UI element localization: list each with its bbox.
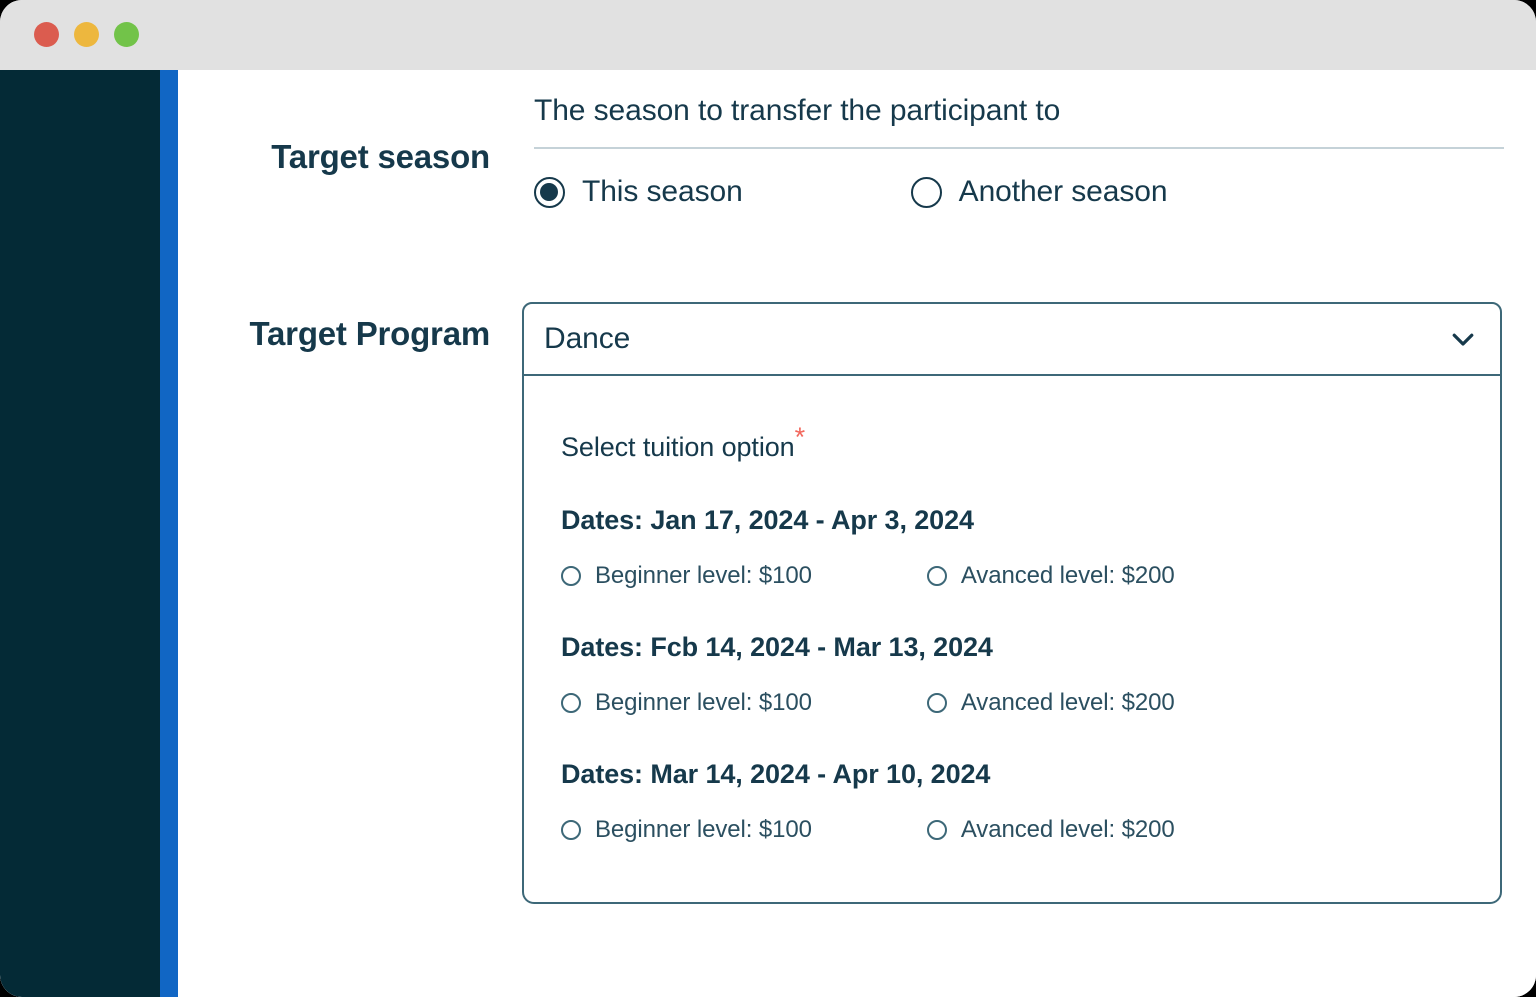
tuition-option-beginner[interactable]: Beginner level: $100 [561,562,812,590]
tuition-group: Dates: Fcb 14, 2024 - Mar 13, 2024 Begin… [524,632,1500,717]
radio-another-season-icon[interactable] [911,177,942,208]
tuition-option-beginner[interactable]: Beginner level: $100 [561,816,812,844]
target-program-field: Dance Select tuition option* Dates: Jan … [522,302,1502,904]
radio-this-season-label: This season [582,175,743,209]
tuition-panel-title-text: Select tuition option [561,432,795,462]
tuition-option-advanced[interactable]: Avanced level: $200 [927,562,1175,590]
sidebar-accent-strip [160,70,178,997]
radio-advanced-icon[interactable] [927,820,947,840]
tuition-radio-group: Beginner level: $100 Avanced level: $200 [524,562,1500,590]
sidebar [0,70,160,997]
tuition-group-dates: Dates: Mar 14, 2024 - Apr 10, 2024 [524,759,1500,790]
tuition-radio-group: Beginner level: $100 Avanced level: $200 [524,689,1500,717]
maximize-button[interactable] [114,22,139,47]
tuition-group-dates: Dates: Fcb 14, 2024 - Mar 13, 2024 [524,632,1500,663]
app-body: Target season The season to transfer the… [0,70,1536,997]
tuition-group-dates: Dates: Jan 17, 2024 - Apr 3, 2024 [524,505,1500,536]
tuition-option-beginner[interactable]: Beginner level: $100 [561,689,812,717]
tuition-option-advanced-label: Avanced level: $200 [961,562,1175,590]
program-select[interactable]: Dance [522,302,1502,376]
tuition-option-beginner-label: Beginner level: $100 [595,689,812,717]
radio-option-this-season[interactable]: This season [534,175,743,209]
close-button[interactable] [34,22,59,47]
season-divider [534,147,1504,149]
radio-beginner-icon[interactable] [561,693,581,713]
minimize-button[interactable] [74,22,99,47]
tuition-option-advanced[interactable]: Avanced level: $200 [927,816,1175,844]
target-season-block: The season to transfer the participant t… [534,90,1514,209]
tuition-panel-title: Select tuition option* [524,432,1500,463]
target-season-label: Target season [200,138,490,176]
target-program-label: Target Program [200,315,490,353]
tuition-group: Dates: Jan 17, 2024 - Apr 3, 2024 Beginn… [524,505,1500,590]
radio-beginner-icon[interactable] [561,566,581,586]
tuition-option-advanced-label: Avanced level: $200 [961,689,1175,717]
chevron-down-icon[interactable] [1448,324,1478,354]
tuition-option-advanced-label: Avanced level: $200 [961,816,1175,844]
tuition-options-panel: Select tuition option* Dates: Jan 17, 20… [522,376,1502,904]
season-radio-group: This season Another season [534,175,1514,209]
tuition-option-advanced[interactable]: Avanced level: $200 [927,689,1175,717]
radio-beginner-icon[interactable] [561,820,581,840]
tuition-option-beginner-label: Beginner level: $100 [595,816,812,844]
tuition-option-beginner-label: Beginner level: $100 [595,562,812,590]
radio-advanced-icon[interactable] [927,693,947,713]
traffic-lights [34,22,139,47]
tuition-radio-group: Beginner level: $100 Avanced level: $200 [524,816,1500,844]
tuition-group: Dates: Mar 14, 2024 - Apr 10, 2024 Begin… [524,759,1500,844]
program-select-value: Dance [544,322,1448,356]
main-content: Target season The season to transfer the… [178,70,1536,997]
radio-this-season-icon[interactable] [534,177,565,208]
radio-advanced-icon[interactable] [927,566,947,586]
radio-another-season-label: Another season [959,175,1168,209]
required-asterisk: * [795,422,805,452]
season-heading: The season to transfer the participant t… [534,90,1514,132]
radio-option-another-season[interactable]: Another season [911,175,1168,209]
title-bar [0,0,1536,70]
app-window: Target season The season to transfer the… [0,0,1536,997]
